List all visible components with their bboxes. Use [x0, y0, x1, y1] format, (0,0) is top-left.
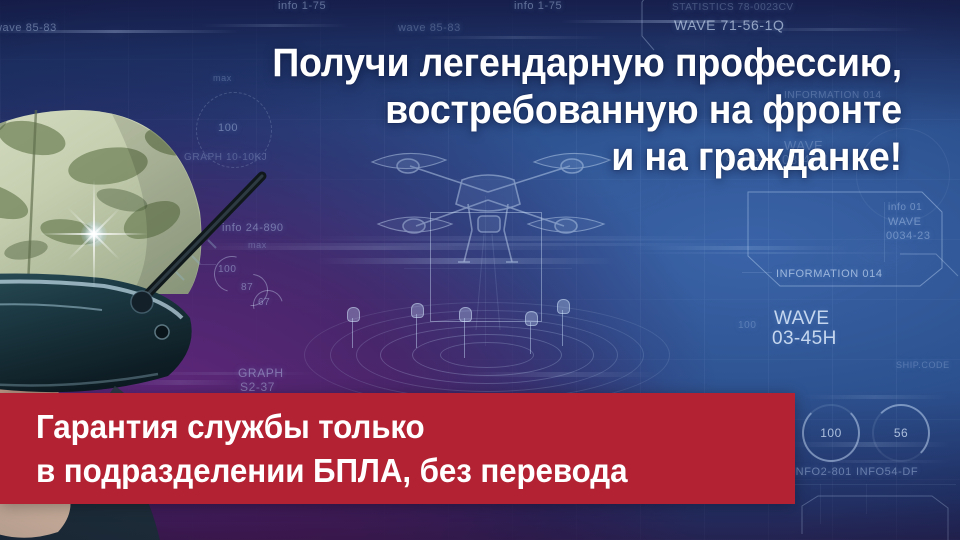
hud-panel-outline-bottom-right: [800, 494, 950, 540]
headline-line-1: Получи легендарную профессию,: [272, 40, 902, 87]
hud-label-gauge-left: INFO2-801: [792, 466, 852, 478]
hud-label-dim-100-left: 100: [738, 320, 757, 331]
hud-gauge-left-value: 100: [802, 404, 860, 462]
hud-radar-pin-3: [530, 322, 531, 354]
banner-line-2: в подразделении БПЛА, без перевода: [36, 449, 627, 493]
hud-data-bar-4: [460, 372, 660, 377]
hud-label-graph: GRAPH: [238, 366, 284, 380]
banner-text: Гарантия службы только в подразделении Б…: [36, 405, 627, 493]
hud-gauge-right-value: 56: [872, 404, 930, 462]
hud-label-statistics: STATISTICS 78-0023CV: [672, 2, 794, 13]
headline-line-3: и на гражданке!: [272, 134, 902, 181]
hud-label-info-top-left: info 1-75: [278, 0, 326, 12]
red-banner: Гарантия службы только в подразделении Б…: [0, 393, 795, 504]
hud-radar-pin-1: [416, 314, 417, 348]
hud-label-information-014-lower: INFORMATION 014: [776, 268, 883, 280]
hud-label-wave-small: WAVE: [888, 216, 922, 228]
hud-gauge-left: 100: [802, 404, 860, 462]
hud-label-info-top-right: info 1-75: [514, 0, 562, 12]
hud-panel-tick-left: [742, 272, 772, 273]
banner-line-1: Гарантия службы только: [36, 405, 627, 449]
hud-label-info-24-890: info 24-890: [222, 222, 284, 234]
hud-label-wave-top-left: wave 85-83: [0, 22, 57, 34]
hud-value-graph-s2-37: S2-37: [240, 380, 275, 394]
hud-radar-pin-2: [464, 318, 465, 358]
headline-line-2: востребованную на фронте: [272, 87, 902, 134]
hud-value-wave-big: 03-45H: [772, 328, 837, 350]
hud-value-wave-small: 0034-23: [886, 230, 931, 242]
headline: Получи легендарную профессию, востребова…: [272, 40, 902, 181]
hud-gauge-baseline: [786, 484, 956, 485]
hud-label-wave-big: WAVE: [774, 308, 829, 330]
hud-label-wave-top-center: wave 85-83: [398, 22, 461, 34]
hud-gauge-drop-1: [820, 484, 821, 524]
hud-label-wave-71-56: WAVE 71-56-1Q: [674, 17, 785, 33]
hud-label-graph-kj: GRAPH 10-10KJ: [184, 152, 267, 163]
hud-radar-pin-5: [352, 318, 353, 348]
hud-gauge-right: 56: [872, 404, 930, 462]
hud-label-info-01: info 01: [888, 202, 922, 213]
hud-radar-ring-6: [440, 342, 534, 368]
promo-banner-image: 100 max 100 87 67: [0, 0, 960, 540]
hud-gauge-drop-2: [866, 484, 867, 514]
hud-label-shipcode: SHIP.CODE: [896, 360, 950, 370]
hud-curve-right: [900, 250, 960, 290]
hud-radar-pin-4: [562, 310, 563, 346]
hud-label-gauge-right: INFO54-DF: [856, 466, 918, 478]
hud-label-max: max: [248, 240, 267, 250]
